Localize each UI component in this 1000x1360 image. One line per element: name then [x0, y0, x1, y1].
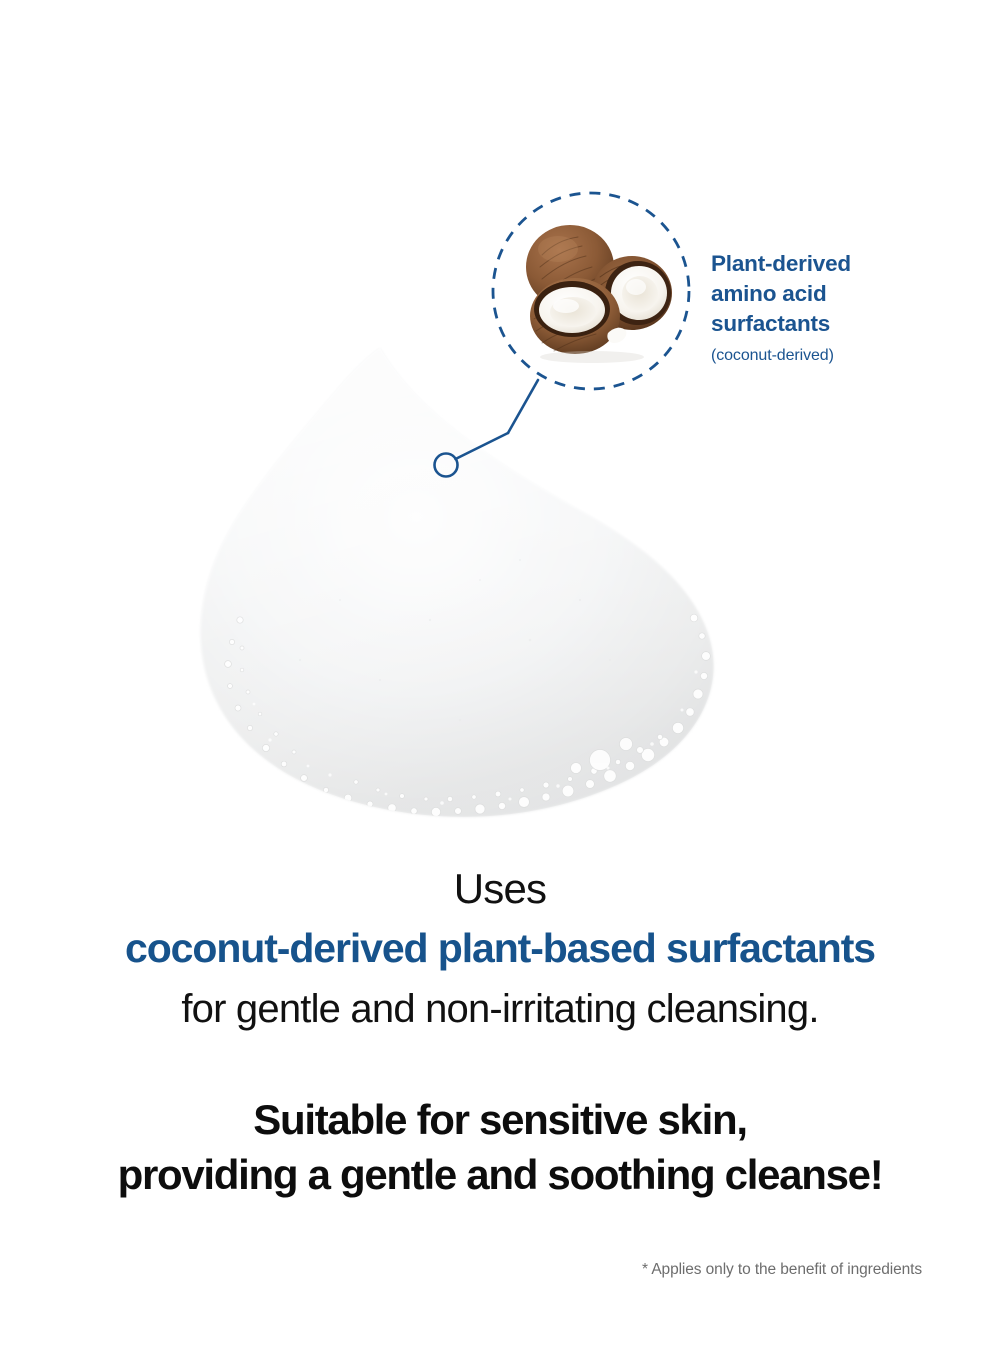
copy-line-uses: Uses	[0, 862, 1000, 916]
headline-line-1: Suitable for sensitive skin,	[0, 1092, 1000, 1147]
callout-title-line-3: surfactants	[711, 309, 991, 339]
callout-title: Plant-derived amino acid surfactants	[711, 249, 991, 339]
callout-title-line-2: amino acid	[711, 279, 991, 309]
headline-block: Suitable for sensitive skin, providing a…	[0, 1092, 1000, 1202]
headline-line-2: providing a gentle and soothing cleanse!	[0, 1147, 1000, 1202]
footnote-disclaimer: * Applies only to the benefit of ingredi…	[642, 1261, 922, 1279]
copy-line-highlight: coconut-derived plant-based surfactants	[0, 916, 1000, 980]
callout-subtitle: (coconut-derived)	[711, 345, 991, 367]
callout-text-block: Plant-derived amino acid surfactants (co…	[711, 249, 991, 367]
body-copy-block: Uses coconut-derived plant-based surfact…	[0, 862, 1000, 1038]
leader-line-icon	[508, 380, 538, 433]
product-infographic: Plant-derived amino acid surfactants (co…	[0, 0, 1000, 1360]
copy-line-cleansing: for gentle and non-irritating cleansing.	[0, 980, 1000, 1038]
coconut-icon	[508, 215, 676, 367]
leader-line-segment-icon	[456, 433, 509, 459]
callout-title-line-1: Plant-derived	[711, 249, 991, 279]
